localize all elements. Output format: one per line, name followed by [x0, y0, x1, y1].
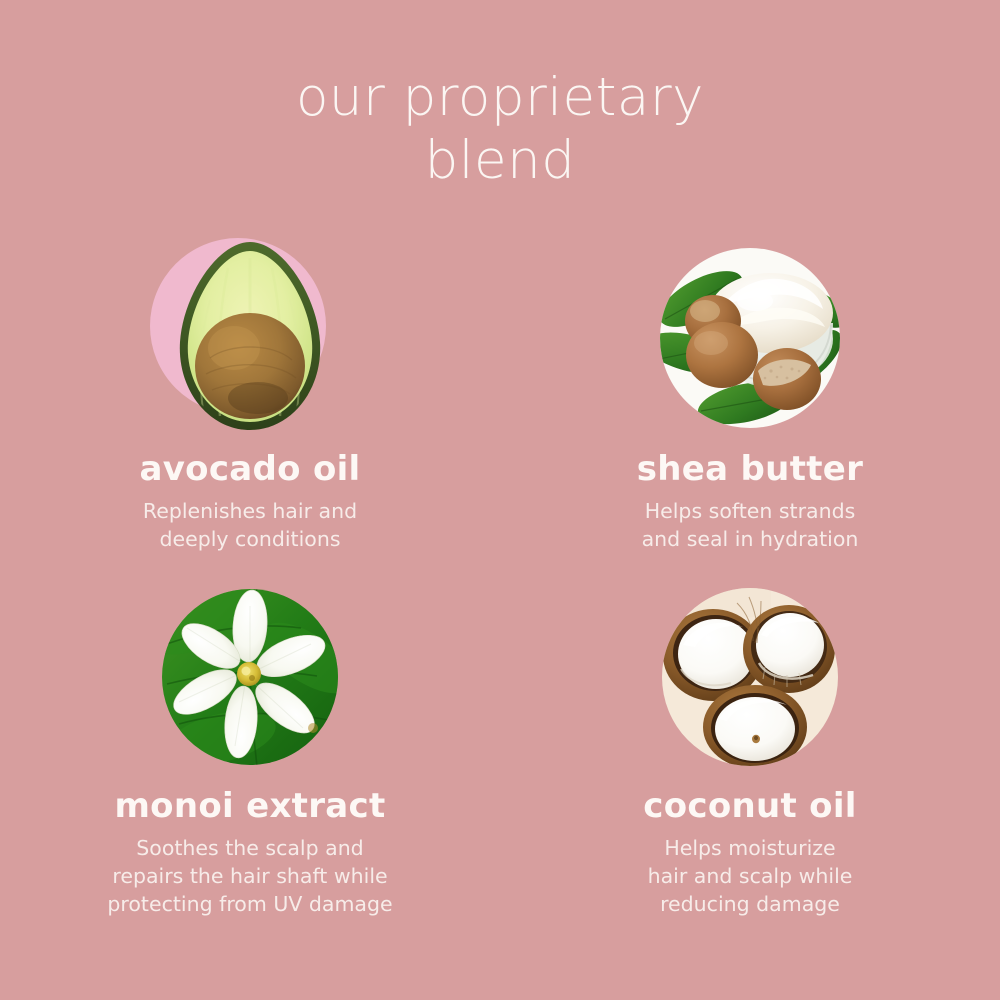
shea-art-wrap	[650, 238, 850, 438]
avocado-art-wrap	[150, 238, 350, 438]
ingredient-description: Helps moisturize hair and scalp while re…	[648, 834, 853, 918]
ingredient-card-coconut-oil: coconut oil Helps moisturize hair and sc…	[500, 577, 1000, 918]
ingredient-description: Replenishes hair and deeply conditions	[143, 497, 357, 553]
tiare-flower-photo	[161, 588, 339, 766]
ingredient-row-1: avocado oil Replenishes hair and deeply …	[0, 238, 1000, 553]
page-title: our proprietary blend	[0, 66, 1000, 192]
ingredient-description: Soothes the scalp and repairs the hair s…	[107, 834, 392, 918]
ingredient-title: shea butter	[637, 450, 863, 488]
ingredient-title: monoi extract	[114, 787, 385, 825]
page-title-line-2: blend	[0, 129, 1000, 192]
ingredient-title: coconut oil	[643, 787, 857, 825]
page-title-line-1: our proprietary	[296, 67, 704, 128]
ingredient-description: Helps soften strands and seal in hydrati…	[642, 497, 859, 553]
ingredient-card-avocado-oil: avocado oil Replenishes hair and deeply …	[0, 238, 500, 553]
coconut-halves-photo	[661, 587, 839, 767]
ingredient-row-2: monoi extract Soothes the scalp and repa…	[0, 577, 1000, 918]
ingredient-card-monoi-extract: monoi extract Soothes the scalp and repa…	[0, 577, 500, 918]
ingredient-grid: avocado oil Replenishes hair and deeply …	[0, 238, 1000, 918]
shea-nuts-and-butter-photo	[659, 247, 841, 429]
ingredient-card-shea-butter: shea butter Helps soften strands and sea…	[500, 238, 1000, 553]
avocado-half-photo	[150, 238, 350, 438]
ingredients-infographic: our proprietary blend	[0, 0, 1000, 1000]
coconut-art-wrap	[650, 577, 850, 777]
monoi-art-wrap	[150, 577, 350, 777]
ingredient-title: avocado oil	[139, 450, 360, 488]
